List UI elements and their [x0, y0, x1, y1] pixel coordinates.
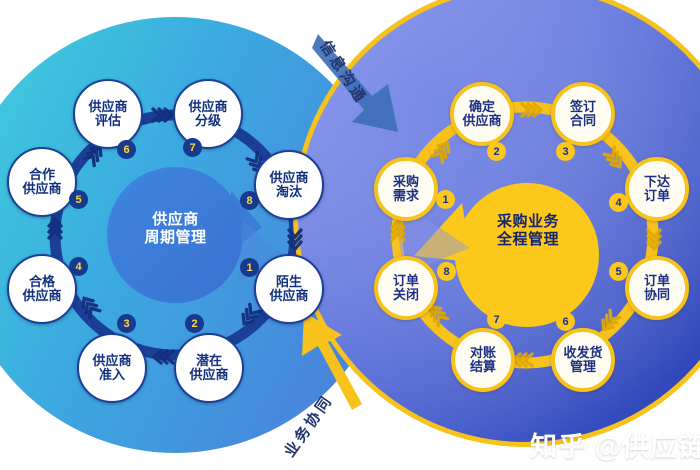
badge-left-7: 7	[183, 138, 202, 157]
node-right-5[interactable]: 订单 协同	[625, 256, 689, 320]
infographic-canvas: 陌生 供应商 1 潜在 供应商 2 供应商 准入 3 合格 供应商 4 合作 供…	[0, 0, 700, 470]
node-left-7[interactable]: 供应商 分级	[173, 79, 243, 149]
node-left-6-label: 供应商 评估	[88, 100, 127, 128]
left-hub-line1: 供应商	[118, 211, 233, 229]
node-right-8[interactable]: 订单 关闭	[374, 256, 438, 320]
node-right-6-label: 收发货 管理	[563, 346, 602, 374]
badge-right-2: 2	[487, 142, 506, 161]
right-hub-title: 采购业务 全程管理	[468, 213, 588, 250]
badge-right-4: 4	[609, 193, 628, 212]
badge-left-6: 6	[117, 140, 136, 159]
badge-left-1: 1	[240, 258, 259, 277]
badge-right-1: 1	[436, 190, 455, 209]
node-right-2-label: 确定 供应商	[462, 100, 501, 128]
node-left-7-label: 供应商 分级	[188, 100, 227, 128]
node-left-1-label: 陌生 供应商	[269, 275, 308, 303]
badge-left-4: 4	[69, 257, 88, 276]
badge-right-8: 8	[437, 262, 456, 281]
left-hub-line2: 周期管理	[118, 229, 233, 247]
node-left-4[interactable]: 合格 供应商	[7, 254, 77, 324]
node-right-2[interactable]: 确定 供应商	[450, 82, 514, 146]
node-left-5[interactable]: 合作 供应商	[7, 147, 77, 217]
node-right-6[interactable]: 收发货 管理	[551, 328, 615, 392]
node-right-3[interactable]: 签订 合同	[551, 82, 615, 146]
badge-left-3: 3	[117, 314, 136, 333]
node-right-5-label: 订单 协同	[644, 274, 670, 302]
node-left-3[interactable]: 供应商 准入	[77, 333, 147, 403]
node-right-1[interactable]: 采购 需求	[374, 157, 438, 221]
node-right-4[interactable]: 下达 订单	[625, 157, 689, 221]
badge-left-5: 5	[69, 190, 88, 209]
badge-right-3: 3	[556, 142, 575, 161]
badge-right-5: 5	[609, 262, 628, 281]
node-right-4-label: 下达 订单	[644, 175, 670, 203]
badge-right-7: 7	[487, 310, 506, 329]
node-left-6[interactable]: 供应商 评估	[73, 79, 143, 149]
node-right-7[interactable]: 对账 结算	[451, 328, 515, 392]
node-right-7-label: 对账 结算	[470, 346, 496, 374]
node-right-3-label: 签订 合同	[570, 100, 596, 128]
node-right-8-label: 订单 关闭	[393, 274, 419, 302]
node-left-3-label: 供应商 准入	[92, 354, 131, 382]
node-right-1-label: 采购 需求	[393, 175, 419, 203]
node-left-5-label: 合作 供应商	[22, 168, 61, 196]
badge-right-6: 6	[556, 312, 575, 331]
watermark: 知乎 @供应链	[530, 425, 700, 464]
right-hub-line2: 全程管理	[468, 231, 588, 249]
node-left-2-label: 潜在 供应商	[189, 354, 228, 382]
node-left-8[interactable]: 供应商 淘汰	[254, 150, 324, 220]
badge-left-2: 2	[185, 314, 204, 333]
right-hub-line1: 采购业务	[468, 213, 588, 231]
badge-left-8: 8	[240, 191, 259, 210]
node-left-2[interactable]: 潜在 供应商	[174, 333, 244, 403]
node-left-4-label: 合格 供应商	[22, 275, 61, 303]
node-left-8-label: 供应商 淘汰	[269, 171, 308, 199]
node-left-1[interactable]: 陌生 供应商	[254, 254, 324, 324]
left-hub-title: 供应商 周期管理	[118, 211, 233, 248]
